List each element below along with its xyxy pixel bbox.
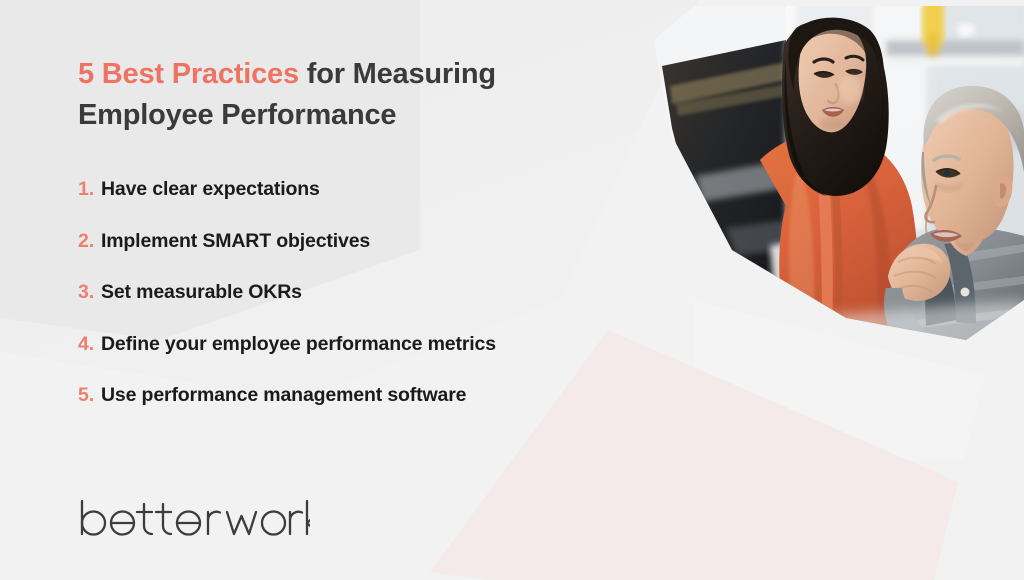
list-item-label: Define your employee performance metrics: [101, 333, 496, 356]
list-item: 4. Define your employee performance metr…: [78, 333, 678, 356]
betterworks-logo: [78, 498, 310, 538]
list-item-number: 1.: [78, 178, 94, 201]
list-item-label: Use performance management software: [101, 384, 466, 407]
infographic-canvas: 5 Best Practices for Measuring Employee …: [0, 0, 1024, 580]
list-item-label: Have clear expectations: [101, 178, 320, 201]
list-item-number: 2.: [78, 230, 94, 253]
list-item-label: Implement SMART objectives: [101, 230, 370, 253]
list-item-number: 5.: [78, 384, 94, 407]
list-item: 1. Have clear expectations: [78, 178, 678, 201]
list-item-number: 3.: [78, 281, 94, 304]
title-accent-text: 5 Best Practices: [78, 58, 299, 90]
list-item: 3. Set measurable OKRs: [78, 281, 678, 304]
list-item-number: 4.: [78, 333, 94, 356]
list-item: 2. Implement SMART objectives: [78, 230, 678, 253]
list-item-label: Set measurable OKRs: [101, 281, 302, 304]
best-practices-list: 1. Have clear expectations 2. Implement …: [78, 178, 678, 436]
list-item: 5. Use performance management software: [78, 384, 678, 407]
page-title: 5 Best Practices for Measuring Employee …: [78, 54, 618, 136]
